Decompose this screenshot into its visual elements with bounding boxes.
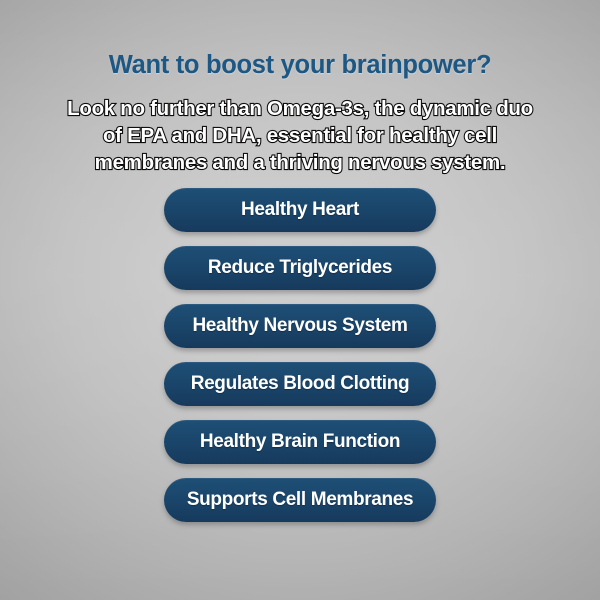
- subtitle-line-2: of EPA and DHA, essential for healthy ce…: [50, 122, 550, 149]
- benefit-label: Healthy Heart: [241, 199, 359, 221]
- infographic-content: Want to boost your brainpower? Look no f…: [0, 0, 600, 600]
- benefit-pill-healthy-brain-function[interactable]: Healthy Brain Function: [164, 420, 436, 464]
- infographic-canvas: Want to boost your brainpower? Look no f…: [0, 0, 600, 600]
- page-title: Want to boost your brainpower?: [0, 51, 600, 80]
- benefit-pill-supports-cell-membranes[interactable]: Supports Cell Membranes: [164, 478, 436, 522]
- subtitle-line-1: Look no further than Omega-3s, the dynam…: [50, 95, 550, 122]
- subtitle-block: Look no further than Omega-3s, the dynam…: [50, 95, 550, 176]
- benefit-pill-healthy-nervous-system[interactable]: Healthy Nervous System: [164, 304, 436, 348]
- benefit-label: Reduce Triglycerides: [208, 257, 392, 279]
- benefit-pill-regulates-blood-clotting[interactable]: Regulates Blood Clotting: [164, 362, 436, 406]
- benefit-label: Regulates Blood Clotting: [191, 373, 410, 395]
- benefit-label: Healthy Brain Function: [200, 431, 400, 453]
- benefit-label: Supports Cell Membranes: [187, 489, 413, 511]
- benefit-pill-reduce-triglycerides[interactable]: Reduce Triglycerides: [164, 246, 436, 290]
- benefits-list: Healthy Heart Reduce Triglycerides Healt…: [164, 188, 436, 522]
- benefit-pill-healthy-heart[interactable]: Healthy Heart: [164, 188, 436, 232]
- subtitle-line-3: membranes and a thriving nervous system.: [50, 149, 550, 176]
- benefit-label: Healthy Nervous System: [192, 315, 407, 337]
